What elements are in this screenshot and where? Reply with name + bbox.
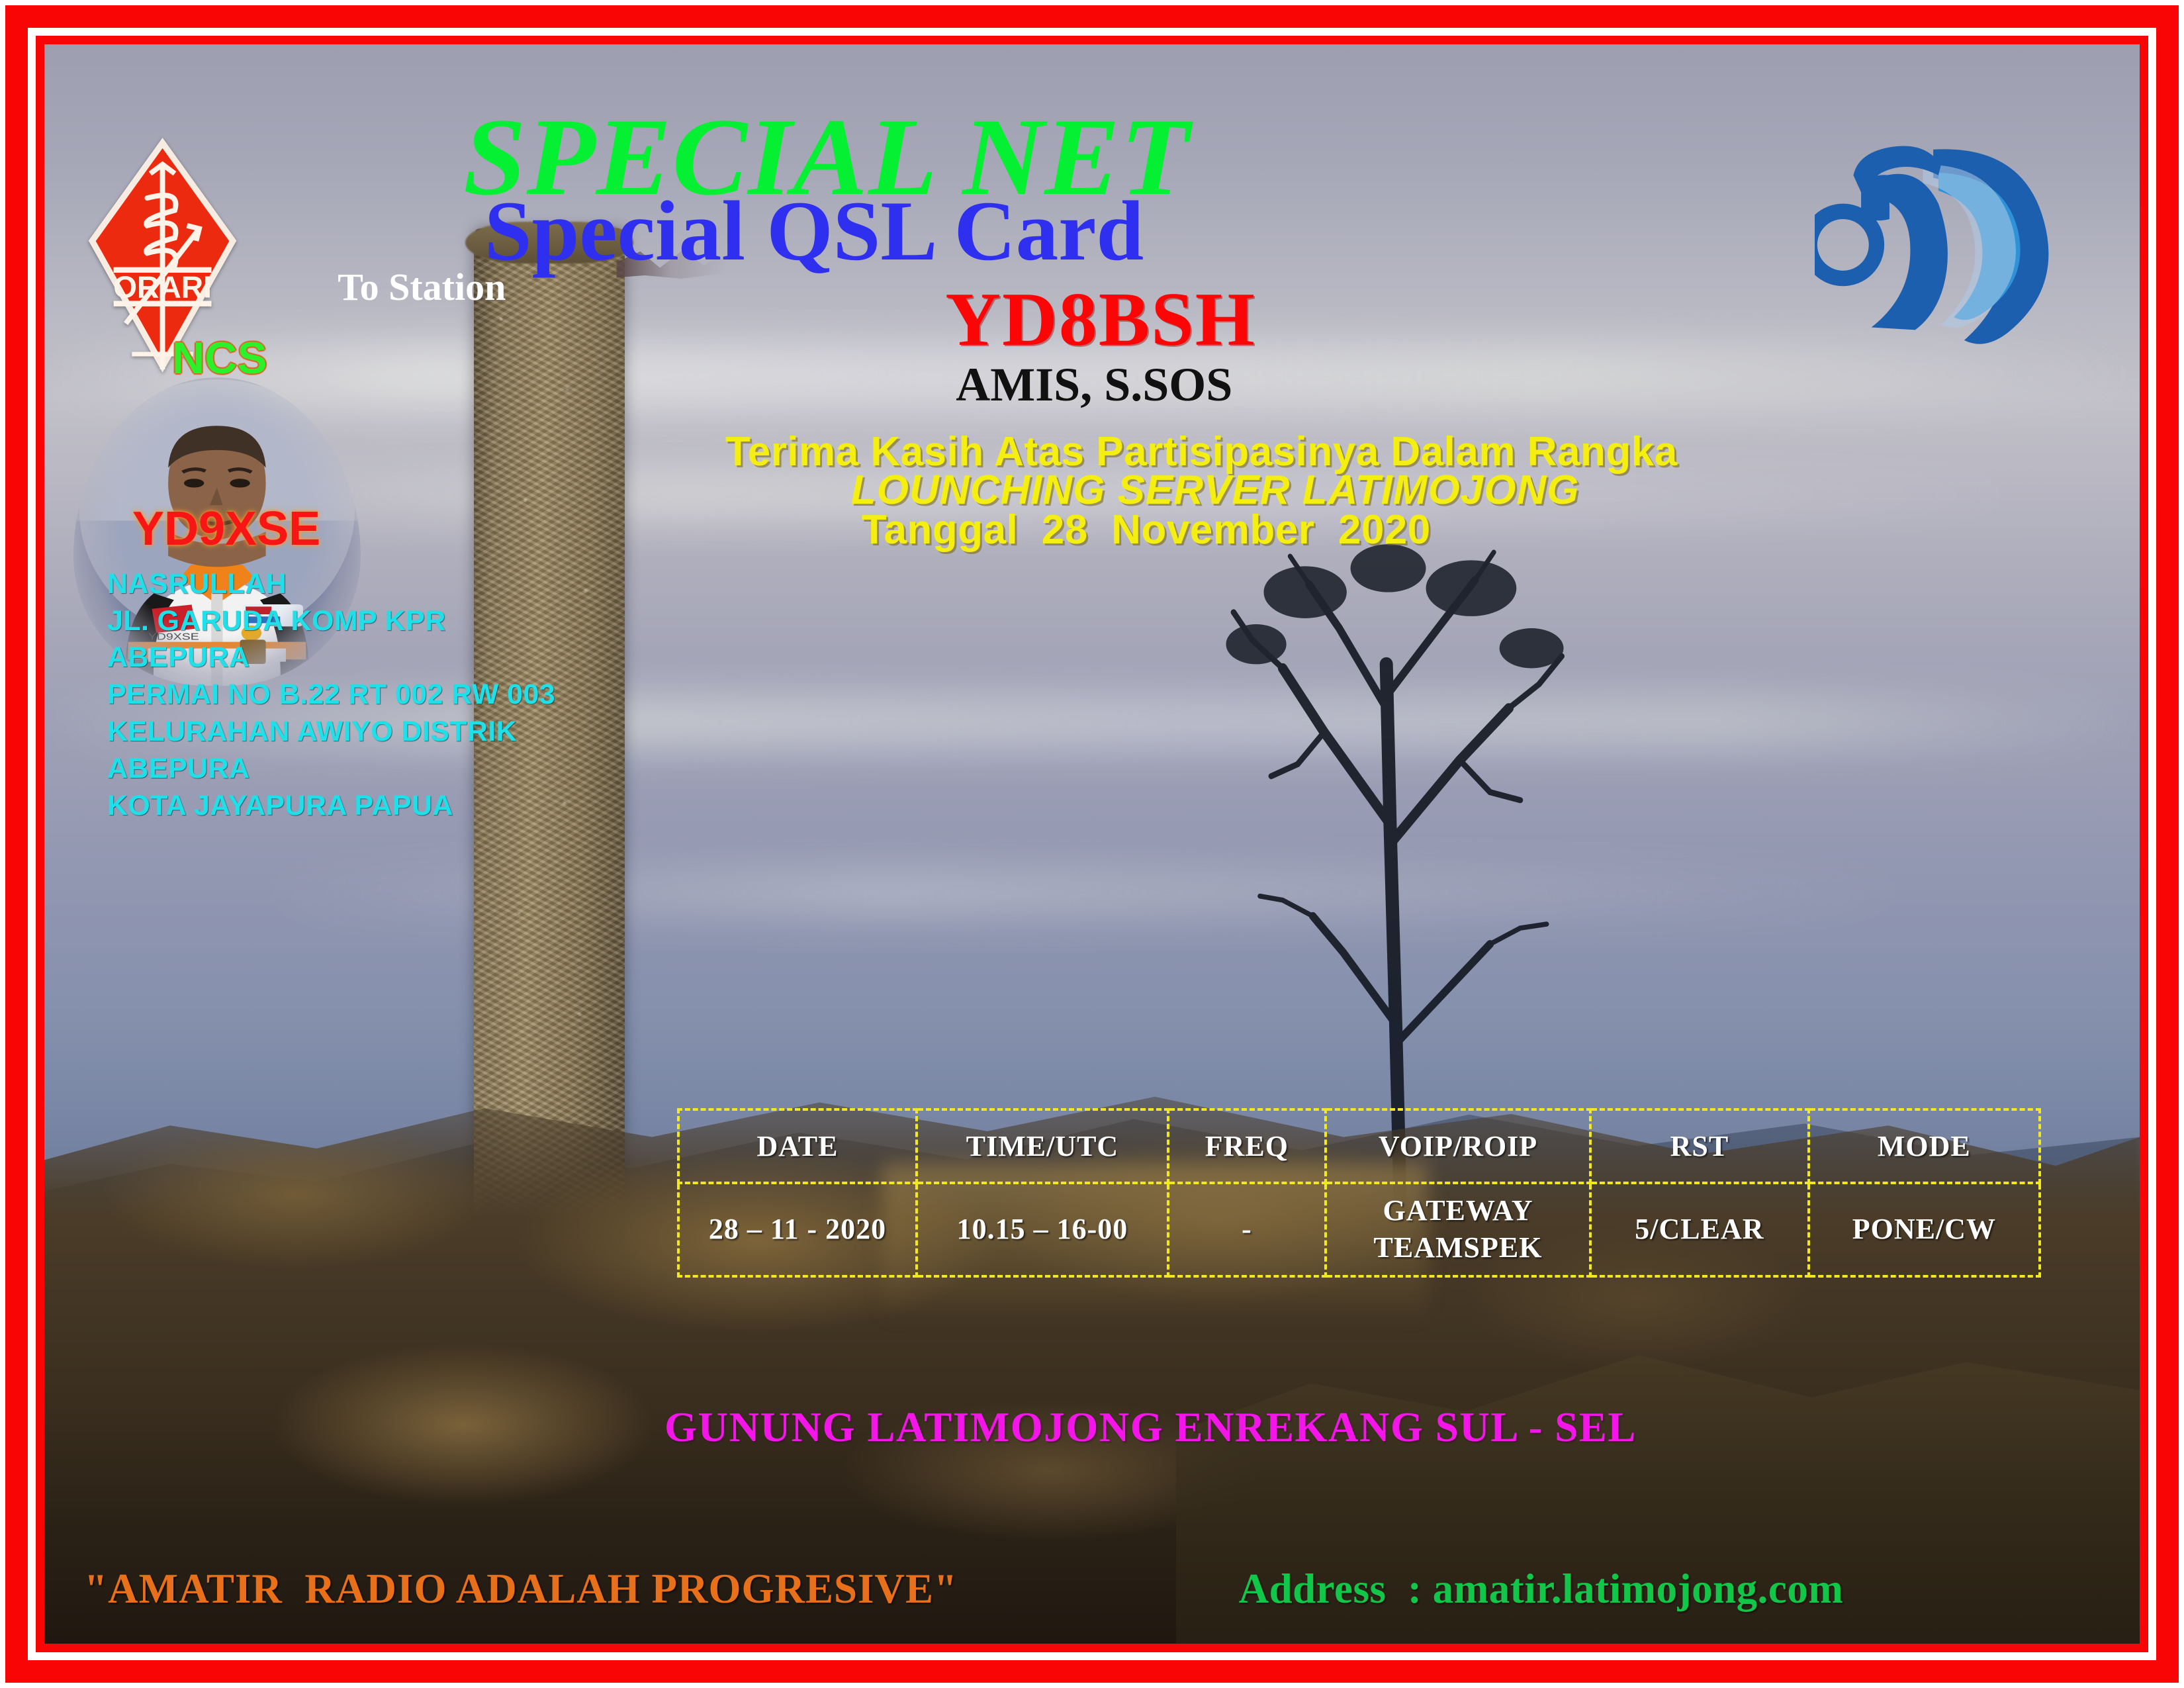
qsl-card: ORARI xyxy=(0,0,2184,1688)
cell-time-utc: 10.15 – 16-00 xyxy=(917,1183,1168,1276)
column-header-mode: MODE xyxy=(1809,1109,2040,1183)
qso-log-table: DATE TIME/UTC FREQ VOIP/ROIP RST MODE 28… xyxy=(677,1108,2041,1278)
ncs-label: NCS xyxy=(172,336,267,381)
event-line-3: Tanggal 28 November 2020 xyxy=(862,510,1431,551)
column-header-rst: RST xyxy=(1590,1109,1808,1183)
column-header-time-utc: TIME/UTC xyxy=(917,1109,1168,1183)
orari-logo-text: ORARI xyxy=(113,269,212,304)
cell-mode: PONE/CW xyxy=(1809,1183,2040,1276)
address-line: KOTA JAYAPURA PAPUA xyxy=(107,788,555,825)
address-line: ABEPURA xyxy=(107,639,555,677)
footer-web-address: Address : amatir.latimojong.com xyxy=(1239,1568,1844,1610)
event-line-1: Terima Kasih Atas Partisipasinya Dalam R… xyxy=(725,432,1678,473)
cell-freq: - xyxy=(1168,1183,1326,1276)
background-photograph: ORARI xyxy=(44,44,2140,1644)
station-callsign: YD8BSH xyxy=(945,281,1256,358)
cell-rst: 5/CLEAR xyxy=(1590,1183,1808,1276)
footer-motto: "AMATIR RADIO ADALAH PROGRESIVE" xyxy=(84,1568,958,1610)
column-header-date: DATE xyxy=(678,1109,917,1183)
table-header-row: DATE TIME/UTC FREQ VOIP/ROIP RST MODE xyxy=(678,1109,2040,1183)
page-subtitle-qsl-card: Special QSL Card xyxy=(484,188,1144,273)
location-caption: GUNUNG LATIMOJONG ENREKANG SUL - SEL xyxy=(664,1407,1637,1448)
address-line: JL. GARUDA KOMP KPR xyxy=(107,603,555,640)
column-header-voip-roip: VOIP/ROIP xyxy=(1326,1109,1590,1183)
cloud-haze-band xyxy=(44,876,2140,909)
address-line: PERMAI NO B.22 RT 002 RW 003 xyxy=(107,677,555,714)
table-row: 28 – 11 - 2020 10.15 – 16-00 - GATEWAY T… xyxy=(678,1183,2040,1276)
mailing-address-block: NASRULLAH JL. GARUDA KOMP KPR ABEPURA PE… xyxy=(107,566,555,825)
address-line: ABEPURA xyxy=(107,751,555,788)
to-station-label: To Station xyxy=(338,268,506,306)
ncs-callsign: YD9XSE xyxy=(132,505,320,553)
cell-voip-roip: GATEWAY TEAMSPEK xyxy=(1326,1183,1590,1276)
address-line: KELURAHAN AWIYO DISTRIK xyxy=(107,714,555,751)
operator-name: AMIS, S.SOS xyxy=(956,361,1232,408)
address-line: NASRULLAH xyxy=(107,566,555,603)
cell-date: 28 – 11 - 2020 xyxy=(678,1183,917,1276)
event-line-2: LOUNCHING SERVER LATIMOJONG xyxy=(851,470,1580,511)
column-header-freq: FREQ xyxy=(1168,1109,1326,1183)
broadcast-headphone-logo xyxy=(1815,83,2072,379)
